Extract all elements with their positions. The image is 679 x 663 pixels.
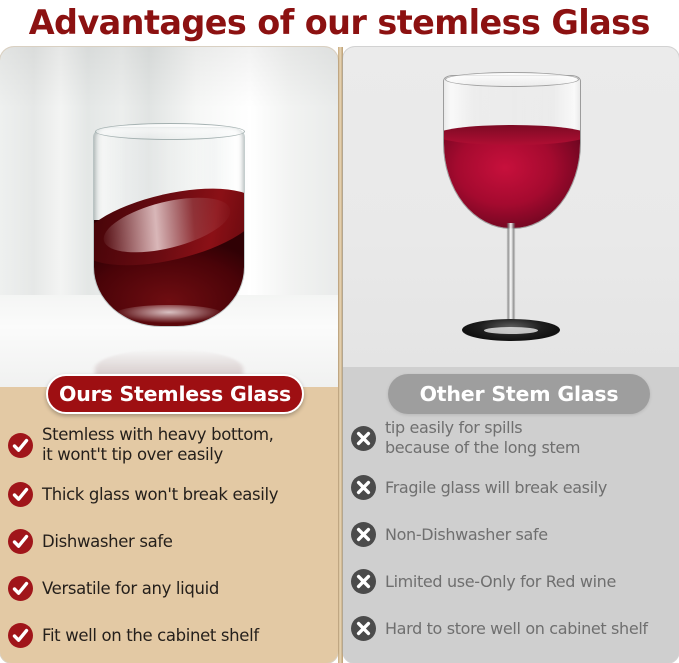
glass-wine <box>443 134 581 229</box>
list-item: Limited use-Only for Red wine <box>343 558 679 605</box>
list-item-label: Non-Dishwasher safe <box>385 525 548 545</box>
badge-other-label: Other Stem Glass <box>420 382 619 406</box>
glass-rim <box>445 72 579 87</box>
list-item: Thick glass won't break easily <box>0 471 338 518</box>
list-item: Dishwasher safe <box>0 518 338 565</box>
check-icon <box>8 529 33 554</box>
right-feature-list: tip easily for spills because of the lon… <box>343 412 679 652</box>
list-item-label: Stemless with heavy bottom, it wont't ti… <box>42 425 274 465</box>
list-item: Fragile glass will break easily <box>343 464 679 511</box>
cross-icon <box>351 475 376 500</box>
tumbler-body <box>93 127 245 327</box>
list-item: Hard to store well on cabinet shelf <box>343 605 679 652</box>
left-feature-list: Stemless with heavy bottom, it wont't ti… <box>0 419 338 659</box>
list-item: Fit well on the cabinet shelf <box>0 612 338 659</box>
right-comparison-panel: Other Stem Glass tip easily for spills b… <box>343 47 679 663</box>
tumbler-rim <box>95 123 245 140</box>
list-item-label: Dishwasher safe <box>42 532 173 552</box>
glass-foot-shine <box>484 327 538 334</box>
left-comparison-panel: Ours Stemless Glass Stemless with heavy … <box>0 47 338 663</box>
list-item-label: Limited use-Only for Red wine <box>385 572 616 592</box>
tumbler-base-shine <box>115 305 223 323</box>
badge-ours-label: Ours Stemless Glass <box>59 382 291 406</box>
check-icon <box>8 482 33 507</box>
cross-icon <box>351 522 376 547</box>
cross-icon <box>351 616 376 641</box>
page-title: Advantages of our stemless Glass <box>29 6 650 40</box>
cross-icon <box>351 426 376 451</box>
list-item-label: Hard to store well on cabinet shelf <box>385 619 648 639</box>
list-item: Versatile for any liquid <box>0 565 338 612</box>
stemless-glass-photo <box>0 47 338 387</box>
page-title-bar: Advantages of our stemless Glass <box>0 0 679 46</box>
check-icon <box>8 623 33 648</box>
comparison-board: Ours Stemless Glass Stemless with heavy … <box>0 47 679 663</box>
glass-stem <box>507 223 516 325</box>
list-item: Non-Dishwasher safe <box>343 511 679 558</box>
list-item: tip easily for spills because of the lon… <box>343 412 679 464</box>
list-item-label: Fit well on the cabinet shelf <box>42 626 259 646</box>
check-icon <box>8 433 33 458</box>
stemless-tumbler-illustration <box>93 127 245 327</box>
list-item-label: Fragile glass will break easily <box>385 478 607 498</box>
stemmed-wine-glass-illustration <box>443 75 579 345</box>
list-item-label: tip easily for spills because of the lon… <box>385 418 580 458</box>
stemmed-glass-photo <box>343 47 679 367</box>
list-item-label: Thick glass won't break easily <box>42 485 278 505</box>
glass-bowl <box>443 75 581 229</box>
cross-icon <box>351 569 376 594</box>
list-item: Stemless with heavy bottom, it wont't ti… <box>0 419 338 471</box>
badge-ours-stemless-glass: Ours Stemless Glass <box>46 374 304 414</box>
list-item-label: Versatile for any liquid <box>42 579 219 599</box>
check-icon <box>8 576 33 601</box>
badge-other-stem-glass: Other Stem Glass <box>388 374 650 414</box>
